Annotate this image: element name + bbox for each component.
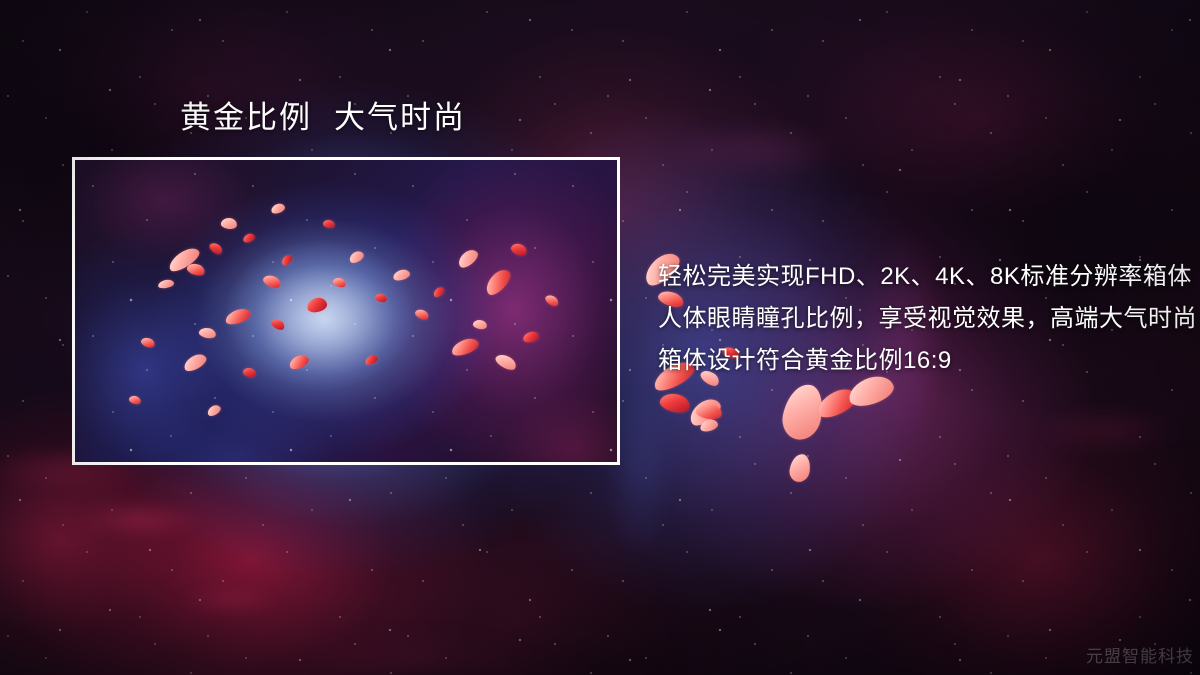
title-part-2: 大气时尚 — [334, 100, 466, 135]
watermark: 元盟智能科技 — [1086, 642, 1194, 667]
page-title: 黄金比例大气时尚 — [180, 101, 466, 135]
product-image-frame — [72, 157, 620, 465]
body-text-block: 轻松完美实现FHD、2K、4K、8K标准分辨率箱体 人体眼睛瞳孔比例，享受视觉效… — [658, 256, 1158, 382]
slide-canvas: 黄金比例大气时尚 轻松完美实现FHD、2K、4K、8K标准分辨率箱体 人体眼睛瞳… — [0, 0, 1200, 675]
title-part-1: 黄金比例 — [180, 100, 312, 135]
flower-petal — [658, 390, 692, 415]
photo-starfield — [75, 160, 617, 462]
body-line-3: 箱体设计符合黄金比例16:9 — [658, 340, 1158, 382]
flower-petal — [788, 453, 812, 484]
body-line-1: 轻松完美实现FHD、2K、4K、8K标准分辨率箱体 — [658, 256, 1158, 298]
body-line-2: 人体眼睛瞳孔比例，享受视觉效果，高端大气时尚 — [658, 298, 1158, 340]
